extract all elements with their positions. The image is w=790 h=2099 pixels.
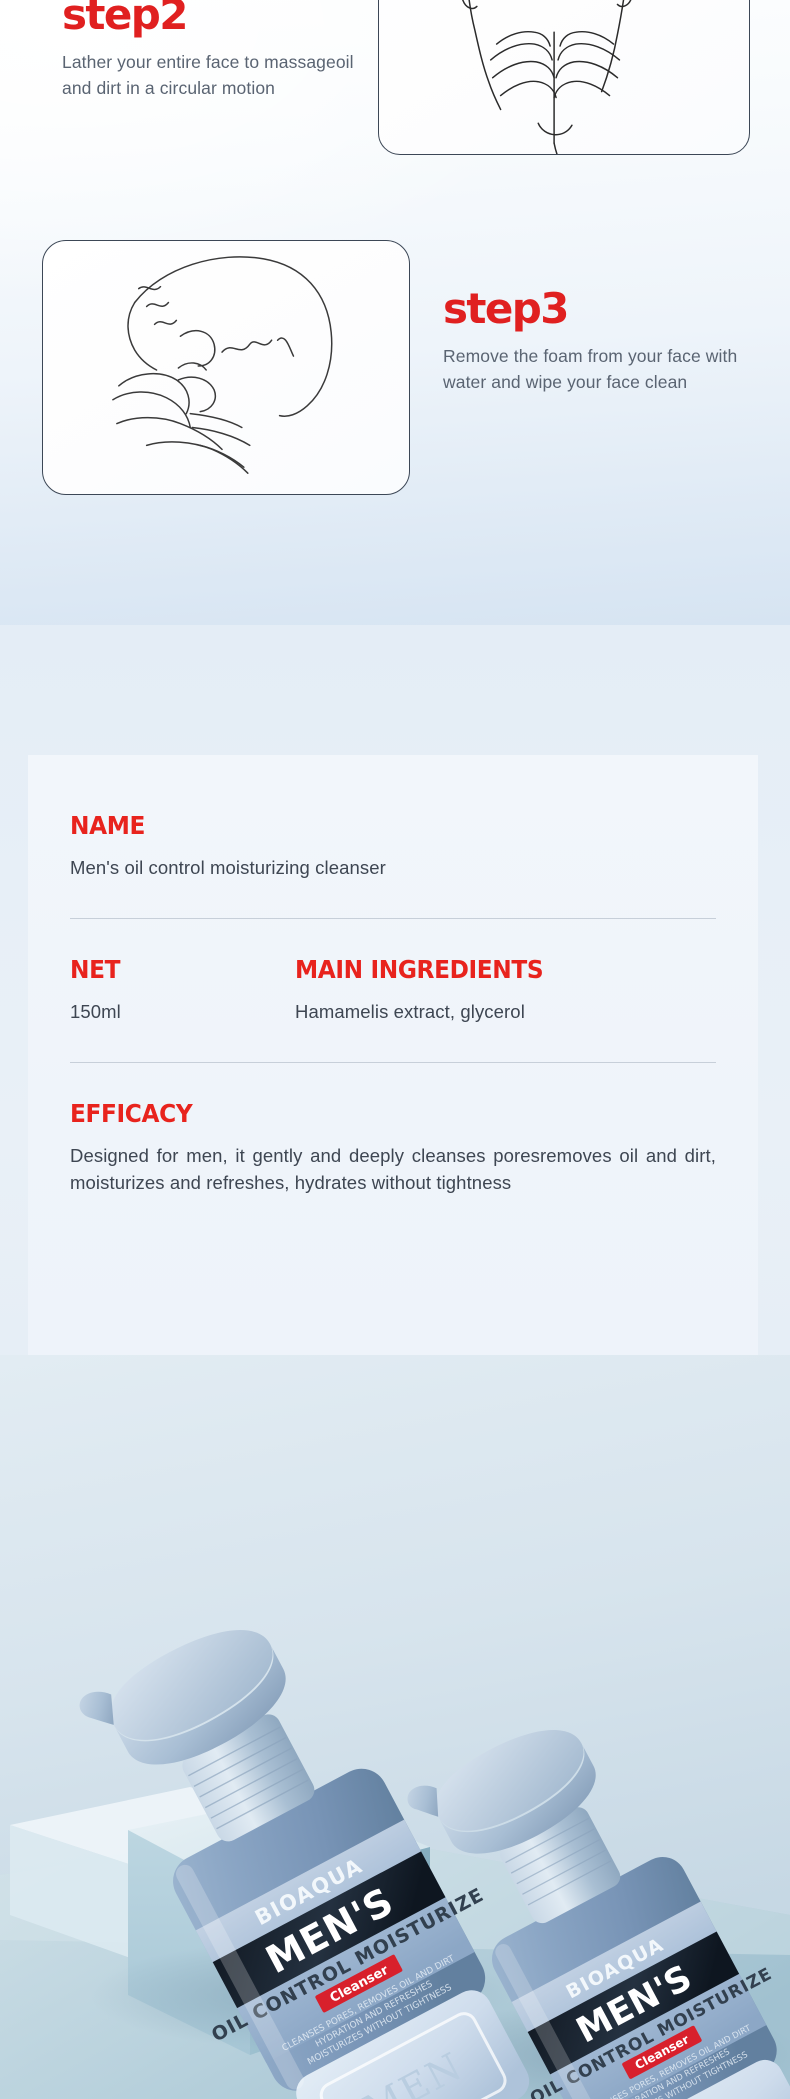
spec-divider-2 bbox=[70, 1062, 716, 1063]
spec-group-efficacy: EFFICACY Designed for men, it gently and… bbox=[70, 1101, 716, 1198]
step3-title: step3 bbox=[443, 288, 763, 330]
step2-description: Lather your entire face to massageoil an… bbox=[62, 50, 362, 102]
product-bottles-photo: BIOAQUA MEN'S OIL CONTROL MOISTURIZE Cle… bbox=[0, 1355, 790, 2099]
step-block-step3: step3 Remove the foam from your face wit… bbox=[443, 288, 763, 396]
spec-group-net: NET 150ml bbox=[70, 957, 295, 1026]
spec-group-net-ingredients: NET 150ml MAIN INGREDIENTS Hamamelis ext… bbox=[70, 957, 716, 1026]
spec-value-efficacy: Designed for men, it gently and deeply c… bbox=[70, 1142, 716, 1198]
spec-group-name: NAME Men's oil control moisturizing clea… bbox=[70, 813, 716, 882]
spec-group-ingredients: MAIN INGREDIENTS Hamamelis extract, glyc… bbox=[295, 957, 716, 1026]
steps-section: step2 Lather your entire face to massage… bbox=[0, 0, 790, 625]
step3-description: Remove the foam from your face with wate… bbox=[443, 344, 763, 396]
specification-section: NAME Men's oil control moisturizing clea… bbox=[0, 625, 790, 1355]
step2-title: step2 bbox=[62, 0, 362, 36]
spec-divider-1 bbox=[70, 918, 716, 919]
spec-value-net: 150ml bbox=[70, 998, 295, 1026]
spec-label-net: NET bbox=[70, 957, 279, 982]
product-photo-section: BIOAQUA MEN'S OIL CONTROL MOISTURIZE Cle… bbox=[0, 1355, 790, 2099]
spec-label-efficacy: EFFICACY bbox=[70, 1101, 671, 1126]
step2-illustration-card bbox=[378, 0, 750, 155]
spec-value-ingredients: Hamamelis extract, glycerol bbox=[295, 998, 716, 1026]
step3-illustration-card bbox=[42, 240, 410, 495]
specification-card: NAME Men's oil control moisturizing clea… bbox=[28, 755, 758, 1355]
spec-label-name: NAME bbox=[70, 813, 671, 838]
spec-value-name: Men's oil control moisturizing cleanser bbox=[70, 854, 716, 882]
step-block-step2: step2 Lather your entire face to massage… bbox=[62, 0, 362, 102]
hands-wiping-face-icon bbox=[43, 241, 409, 494]
spec-label-ingredients: MAIN INGREDIENTS bbox=[295, 957, 687, 982]
hands-lathering-face-icon bbox=[379, 0, 749, 154]
